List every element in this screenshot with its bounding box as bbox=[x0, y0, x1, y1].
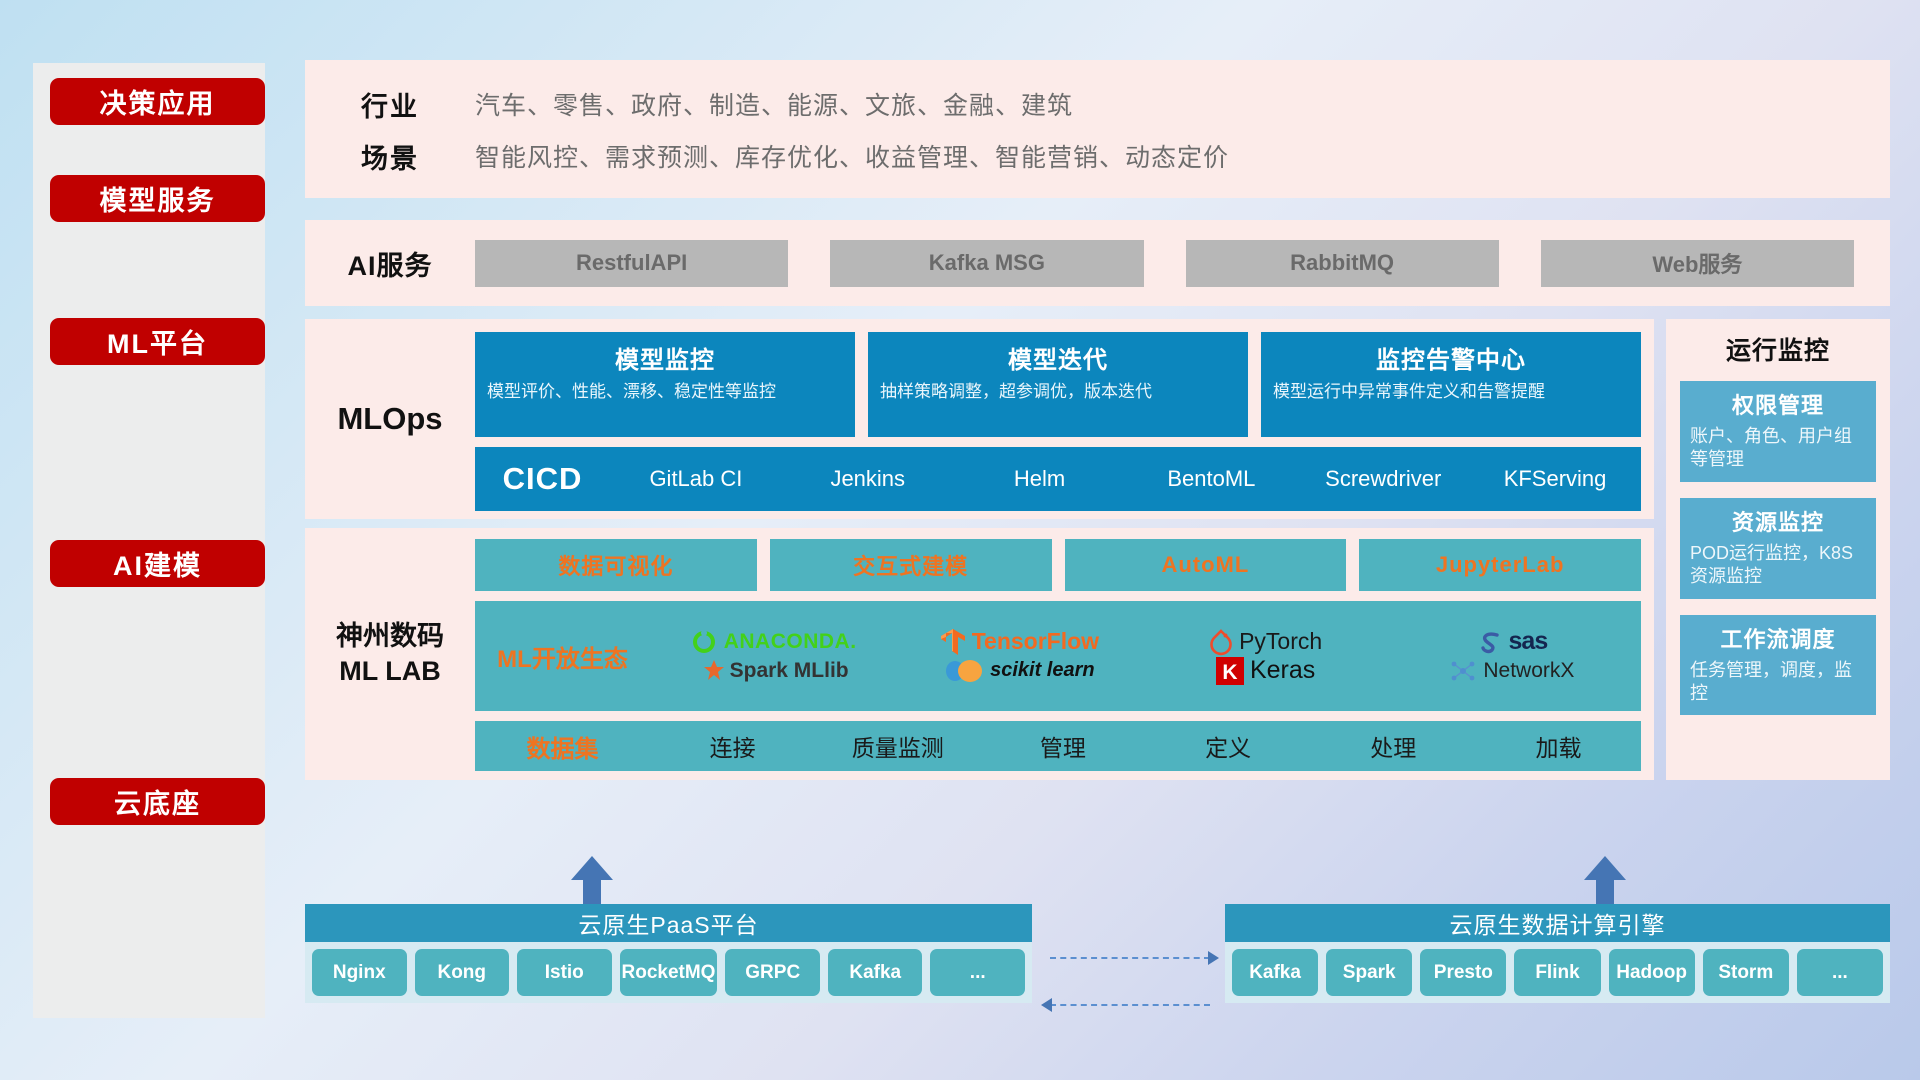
cicd-item-kfserving[interactable]: KFServing bbox=[1469, 467, 1641, 491]
cloud-foundation: 云原生PaaS平台 Nginx Kong Istio RocketMQ GRPC… bbox=[305, 882, 1890, 1022]
card-desc: 账户、角色、用户组等管理 bbox=[1690, 425, 1866, 472]
sas-logo-text: sas bbox=[1509, 627, 1548, 656]
ml-lab-tool-row: 数据可视化 交互式建模 AutoML JupyterLab bbox=[475, 539, 1641, 591]
cicd-item-screwdriver[interactable]: Screwdriver bbox=[1297, 467, 1469, 491]
ml-ecosystem-box: ML开放生态 ANACONDA. bbox=[475, 601, 1641, 711]
tool-chip-interactive-modeling[interactable]: 交互式建模 bbox=[770, 539, 1052, 591]
scenario-label: 场景 bbox=[305, 137, 475, 176]
paas-chip-more[interactable]: ... bbox=[930, 949, 1025, 996]
data-engine-chip-list: Kafka Spark Presto Flink Hadoop Storm ..… bbox=[1225, 942, 1890, 1003]
dataset-bar: 数据集 连接 质量监测 管理 定义 处理 加载 bbox=[475, 721, 1641, 771]
engine-chip-flink[interactable]: Flink bbox=[1514, 949, 1600, 996]
ai-service-band: AI服务 RestfulAPI Kafka MSG RabbitMQ Web服务 bbox=[305, 220, 1890, 306]
tool-chip-jupyterlab[interactable]: JupyterLab bbox=[1359, 539, 1641, 591]
dataset-item-quality[interactable]: 质量监测 bbox=[815, 729, 980, 763]
ml-lab-content: 数据可视化 交互式建模 AutoML JupyterLab ML开放生态 A bbox=[475, 528, 1654, 780]
engine-chip-kafka[interactable]: Kafka bbox=[1232, 949, 1318, 996]
industry-row: 行业 汽车、零售、政府、制造、能源、文旅、金融、建筑 bbox=[305, 78, 1890, 130]
dataset-item-connect[interactable]: 连接 bbox=[650, 729, 815, 763]
paas-chip-rocketmq[interactable]: RocketMQ bbox=[620, 949, 718, 996]
card-title: 模型监控 bbox=[487, 340, 843, 375]
dataset-label: 数据集 bbox=[475, 729, 650, 764]
cicd-item-list: GitLab CI Jenkins Helm BentoML Screwdriv… bbox=[610, 467, 1641, 491]
card-desc: 模型评价、性能、漂移、稳定性等监控 bbox=[487, 381, 843, 403]
runtime-monitoring-panel: 运行监控 权限管理 账户、角色、用户组等管理 资源监控 POD运行监控，K8S资… bbox=[1666, 319, 1890, 780]
tool-chip-data-visualization[interactable]: 数据可视化 bbox=[475, 539, 757, 591]
pytorch-logo-text: PyTorch bbox=[1239, 628, 1322, 655]
cicd-bar: CICD GitLab CI Jenkins Helm BentoML Scre… bbox=[475, 447, 1641, 511]
mlops-card-model-iteration[interactable]: 模型迭代 抽样策略调整，超参调优，版本迭代 bbox=[868, 332, 1248, 437]
card-desc: 任务管理，调度，监控 bbox=[1690, 659, 1866, 706]
data-engine-group: 云原生数据计算引擎 Kafka Spark Presto Flink Hadoo… bbox=[1225, 904, 1890, 1003]
engine-chip-spark[interactable]: Spark bbox=[1326, 949, 1412, 996]
rail-item-model-service[interactable]: 模型服务 bbox=[50, 175, 265, 222]
architecture-diagram: 决策应用 模型服务 ML平台 AI建模 云底座 行业 汽车、零售、政府、制造、能… bbox=[0, 0, 1920, 1080]
service-chip-restfulapi[interactable]: RestfulAPI bbox=[475, 240, 788, 287]
svg-text:K: K bbox=[1222, 661, 1237, 684]
ml-lab-label: 神州数码 ML LAB bbox=[305, 528, 475, 780]
ml-ecosystem-logo-grid: ANACONDA. TensorFlow bbox=[650, 627, 1641, 685]
mlops-card-alert-center[interactable]: 监控告警中心 模型运行中异常事件定义和告警提醒 bbox=[1261, 332, 1641, 437]
dataset-item-load[interactable]: 加载 bbox=[1476, 729, 1641, 763]
monitor-card-permission[interactable]: 权限管理 账户、角色、用户组等管理 bbox=[1680, 381, 1876, 482]
spark-mllib-logo-text: Spark MLlib bbox=[730, 659, 849, 683]
rail-item-cloud-base[interactable]: 云底座 bbox=[50, 778, 265, 825]
service-chip-kafka-msg[interactable]: Kafka MSG bbox=[830, 240, 1143, 287]
data-engine-title: 云原生数据计算引擎 bbox=[1225, 904, 1890, 942]
mlops-card-list: 模型监控 模型评价、性能、漂移、稳定性等监控 模型迭代 抽样策略调整，超参调优，… bbox=[475, 332, 1641, 437]
rail-item-ml-platform[interactable]: ML平台 bbox=[50, 318, 265, 365]
card-desc: 抽样策略调整，超参调优，版本迭代 bbox=[880, 381, 1236, 403]
ai-modeling-band: 神州数码 ML LAB 数据可视化 交互式建模 AutoML JupyterLa… bbox=[305, 528, 1654, 780]
mlops-content: 模型监控 模型评价、性能、漂移、稳定性等监控 模型迭代 抽样策略调整，超参调优，… bbox=[475, 319, 1654, 519]
layer-rail: 决策应用 模型服务 ML平台 AI建模 云底座 bbox=[33, 63, 265, 1018]
anaconda-logo: ANACONDA. bbox=[690, 628, 857, 656]
paas-chip-list: Nginx Kong Istio RocketMQ GRPC Kafka ... bbox=[305, 942, 1032, 1003]
cicd-item-helm[interactable]: Helm bbox=[954, 467, 1126, 491]
anaconda-logo-text: ANACONDA. bbox=[724, 630, 857, 654]
engine-chip-more[interactable]: ... bbox=[1797, 949, 1883, 996]
dataset-item-define[interactable]: 定义 bbox=[1146, 729, 1311, 763]
networkx-logo: NetworkX bbox=[1449, 658, 1574, 684]
monitor-card-resource[interactable]: 资源监控 POD运行监控，K8S资源监控 bbox=[1680, 498, 1876, 599]
mlops-label: MLOps bbox=[305, 319, 475, 519]
ml-ecosystem-label: ML开放生态 bbox=[475, 639, 650, 674]
ai-service-label: AI服务 bbox=[305, 244, 475, 283]
cicd-item-bentoml[interactable]: BentoML bbox=[1125, 467, 1297, 491]
engine-chip-hadoop[interactable]: Hadoop bbox=[1609, 949, 1695, 996]
runtime-monitoring-title: 运行监控 bbox=[1680, 331, 1876, 367]
paas-chip-istio[interactable]: Istio bbox=[517, 949, 612, 996]
pytorch-logo: PyTorch bbox=[1209, 628, 1322, 656]
paas-chip-grpc[interactable]: GRPC bbox=[725, 949, 820, 996]
spark-mllib-logo: Spark MLlib bbox=[698, 659, 849, 683]
paas-chip-nginx[interactable]: Nginx bbox=[312, 949, 407, 996]
decision-app-band: 行业 汽车、零售、政府、制造、能源、文旅、金融、建筑 场景 智能风控、需求预测、… bbox=[305, 60, 1890, 198]
card-title: 权限管理 bbox=[1690, 388, 1866, 420]
scikit-learn-logo-text: scikit learn bbox=[990, 659, 1095, 682]
tensorflow-logo: TensorFlow bbox=[940, 628, 1099, 656]
card-desc: 模型运行中异常事件定义和告警提醒 bbox=[1273, 381, 1629, 403]
cicd-label: CICD bbox=[475, 461, 610, 497]
sas-logo: sas bbox=[1477, 627, 1548, 656]
scenario-values: 智能风控、需求预测、库存优化、收益管理、智能营销、动态定价 bbox=[475, 138, 1229, 174]
card-title: 模型迭代 bbox=[880, 340, 1236, 375]
ai-service-chips: RestfulAPI Kafka MSG RabbitMQ Web服务 bbox=[475, 240, 1890, 287]
ml-lab-label-line2: ML LAB bbox=[339, 654, 441, 689]
tensorflow-logo-text: TensorFlow bbox=[972, 628, 1099, 655]
mlops-card-model-monitoring[interactable]: 模型监控 模型评价、性能、漂移、稳定性等监控 bbox=[475, 332, 855, 437]
card-title: 工作流调度 bbox=[1690, 622, 1866, 654]
paas-group: 云原生PaaS平台 Nginx Kong Istio RocketMQ GRPC… bbox=[305, 904, 1032, 1003]
mlops-band: MLOps 模型监控 模型评价、性能、漂移、稳定性等监控 模型迭代 抽样策略调整… bbox=[305, 319, 1654, 519]
card-title: 资源监控 bbox=[1690, 505, 1866, 537]
industry-label: 行业 bbox=[305, 85, 475, 124]
paas-chip-kafka[interactable]: Kafka bbox=[828, 949, 923, 996]
card-title: 监控告警中心 bbox=[1273, 340, 1629, 375]
keras-logo: K Keras bbox=[1216, 656, 1315, 685]
paas-chip-kong[interactable]: Kong bbox=[415, 949, 510, 996]
rail-item-decision-app[interactable]: 决策应用 bbox=[50, 78, 265, 125]
engine-chip-presto[interactable]: Presto bbox=[1420, 949, 1506, 996]
rail-item-ai-modeling[interactable]: AI建模 bbox=[50, 540, 265, 587]
tool-chip-automl[interactable]: AutoML bbox=[1065, 539, 1347, 591]
keras-logo-text: Keras bbox=[1250, 656, 1315, 685]
paas-title: 云原生PaaS平台 bbox=[305, 904, 1032, 942]
cicd-item-jenkins[interactable]: Jenkins bbox=[782, 467, 954, 491]
networkx-logo-text: NetworkX bbox=[1483, 659, 1574, 683]
industry-values: 汽车、零售、政府、制造、能源、文旅、金融、建筑 bbox=[475, 86, 1073, 122]
dataset-item-list: 连接 质量监测 管理 定义 处理 加载 bbox=[650, 729, 1641, 763]
service-chip-web[interactable]: Web服务 bbox=[1541, 240, 1854, 287]
dataset-item-manage[interactable]: 管理 bbox=[980, 729, 1145, 763]
card-desc: POD运行监控，K8S资源监控 bbox=[1690, 542, 1866, 589]
ml-lab-label-line1: 神州数码 bbox=[336, 619, 444, 654]
dataset-item-process[interactable]: 处理 bbox=[1311, 729, 1476, 763]
engine-chip-storm[interactable]: Storm bbox=[1703, 949, 1789, 996]
monitor-card-workflow[interactable]: 工作流调度 任务管理，调度，监控 bbox=[1680, 615, 1876, 716]
scenario-row: 场景 智能风控、需求预测、库存优化、收益管理、智能营销、动态定价 bbox=[305, 130, 1890, 182]
cicd-item-gitlab-ci[interactable]: GitLab CI bbox=[610, 467, 782, 491]
scikit-learn-logo: scikit learn bbox=[944, 658, 1095, 684]
service-chip-rabbitmq[interactable]: RabbitMQ bbox=[1186, 240, 1499, 287]
